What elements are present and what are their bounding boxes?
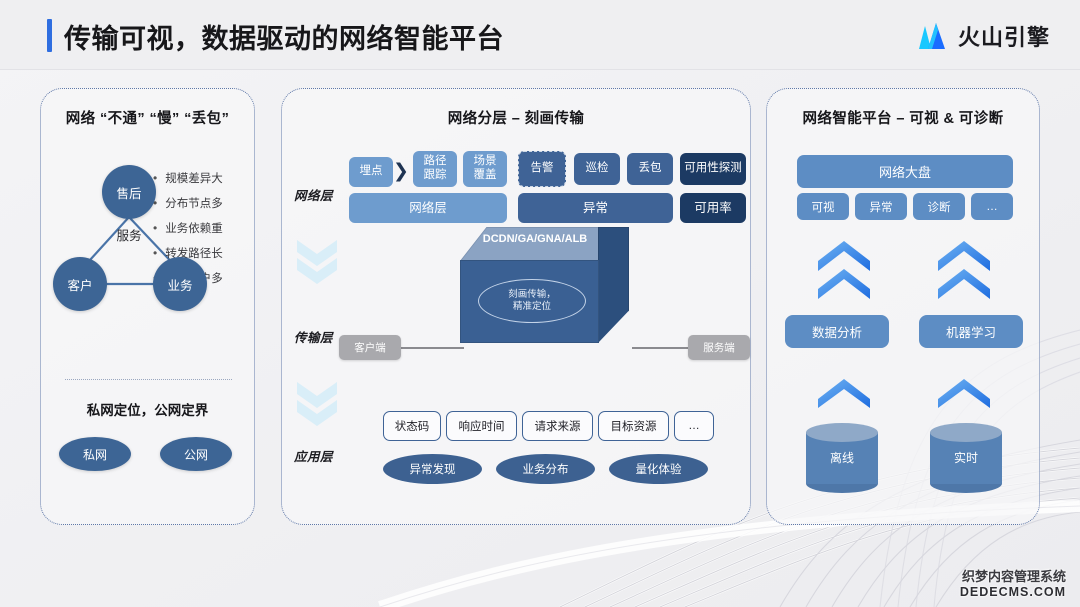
list-item: • 分布节点多 bbox=[153, 190, 258, 215]
chevron-up-icon bbox=[935, 377, 993, 409]
metric-target-resource[interactable]: 目标资源 bbox=[598, 411, 669, 441]
metric-more[interactable]: … bbox=[674, 411, 714, 441]
storage-offline-label: 离线 bbox=[806, 449, 878, 466]
storage-realtime-label: 实时 bbox=[930, 449, 1002, 466]
panel-network-layering: 网络分层 – 刻画传输 网络层 传输层 应用层 埋点 ❯ 路径跟踪 场景覆盖 告… bbox=[281, 88, 751, 525]
tag-availability-probe[interactable]: 可用性探测 bbox=[680, 153, 746, 185]
connector-client bbox=[398, 347, 464, 349]
node-client-endpoint[interactable]: 客户端 bbox=[339, 335, 401, 360]
cylinder-top bbox=[930, 423, 1002, 442]
node-server-endpoint[interactable]: 服务端 bbox=[688, 335, 750, 360]
tag-packet-loss[interactable]: 丢包 bbox=[627, 153, 673, 185]
chevron-down-icon bbox=[294, 379, 340, 427]
chip-anomaly[interactable]: 异常 bbox=[855, 193, 907, 220]
watermark: 织梦内容管理系统 DEDECMS.COM bbox=[960, 570, 1066, 599]
tag-alarm[interactable]: 告警 bbox=[518, 151, 566, 187]
chevron-up-double-icon bbox=[815, 239, 873, 301]
layer-label-application: 应用层 bbox=[294, 446, 333, 465]
panel-network-problems: 网络 “不通” “慢” “丢包” 售后 客户 业务 服务 • 规模差异大 • 分… bbox=[40, 88, 255, 525]
graph-node-business[interactable]: 业务 bbox=[153, 257, 207, 311]
node-public-network[interactable]: 公网 bbox=[160, 437, 232, 471]
storage-offline[interactable]: 离线 bbox=[806, 423, 878, 491]
outcome-business-distribution[interactable]: 业务分布 bbox=[496, 454, 595, 484]
bullet-text: 规模差异大 bbox=[165, 170, 223, 186]
graph-node-client[interactable]: 客户 bbox=[53, 257, 107, 311]
chip-diagnosis[interactable]: 诊断 bbox=[913, 193, 965, 220]
brand-name: 火山引擎 bbox=[958, 20, 1050, 52]
left-panel-divider bbox=[65, 379, 232, 380]
layer-label-transport: 传输层 bbox=[294, 327, 333, 346]
cylinder-top bbox=[806, 423, 878, 442]
tag-instrumentation[interactable]: 埋点 bbox=[349, 157, 393, 187]
title-accent-bar bbox=[47, 19, 52, 52]
chevron-up-double-icon bbox=[935, 239, 993, 301]
metric-status-code[interactable]: 状态码 bbox=[383, 411, 441, 441]
node-private-network[interactable]: 私网 bbox=[59, 437, 131, 471]
btn-data-analysis[interactable]: 数据分析 bbox=[785, 315, 889, 348]
bar-anomaly[interactable]: 异常 bbox=[518, 193, 673, 223]
left-panel-title: 网络 “不通” “慢” “丢包” bbox=[41, 107, 254, 128]
layer-label-network: 网络层 bbox=[294, 185, 333, 204]
outcome-quantified-experience[interactable]: 量化体验 bbox=[609, 454, 708, 484]
tag-inspection[interactable]: 巡检 bbox=[574, 153, 620, 185]
list-item: • 规模差异大 bbox=[153, 165, 258, 190]
box-label: DCDN/GA/GNA/ALB bbox=[470, 233, 600, 245]
chip-more[interactable]: … bbox=[971, 193, 1013, 220]
left-panel-subtitle: 私网定位，公网定界 bbox=[41, 399, 254, 419]
panel-intelligent-platform: 网络智能平台 – 可视 & 可诊断 网络大盘 可视 异常 诊断 … 数据分析 机… bbox=[766, 88, 1040, 525]
page-title: 传输可视，数据驱动的网络智能平台 bbox=[64, 17, 504, 56]
bullet-dot-icon: • bbox=[153, 247, 157, 259]
chevron-right-icon: ❯ bbox=[393, 161, 411, 183]
tag-scenario-coverage-line1: 场景覆盖 bbox=[474, 155, 497, 182]
volcano-mountain-icon bbox=[914, 21, 950, 51]
metric-response-time[interactable]: 响应时间 bbox=[446, 411, 517, 441]
center-panel-title: 网络分层 – 刻画传输 bbox=[282, 107, 750, 128]
chevron-down-icon bbox=[294, 237, 340, 285]
bar-network-dashboard[interactable]: 网络大盘 bbox=[797, 155, 1013, 188]
graph-node-after-sales[interactable]: 售后 bbox=[102, 165, 156, 219]
bullet-text: 业务依赖重 bbox=[165, 220, 223, 236]
brand-logo: 火山引擎 bbox=[914, 20, 1050, 52]
tag-scenario-coverage[interactable]: 场景覆盖 bbox=[463, 151, 507, 187]
transport-3d-box: DCDN/GA/GNA/ALB 刻画传输，精准定位 bbox=[460, 227, 630, 343]
chip-visibility[interactable]: 可视 bbox=[797, 193, 849, 220]
chevron-up-icon bbox=[815, 377, 873, 409]
btn-machine-learning[interactable]: 机器学习 bbox=[919, 315, 1023, 348]
watermark-cn: 织梦内容管理系统 bbox=[960, 570, 1066, 585]
bar-network-layer[interactable]: 网络层 bbox=[349, 193, 507, 223]
watermark-en: DEDECMS.COM bbox=[960, 585, 1066, 599]
bar-availability-rate[interactable]: 可用率 bbox=[680, 193, 746, 223]
metric-request-source[interactable]: 请求来源 bbox=[522, 411, 593, 441]
tag-path-tracing[interactable]: 路径跟踪 bbox=[413, 151, 457, 187]
right-panel-title: 网络智能平台 – 可视 & 可诊断 bbox=[767, 107, 1039, 128]
outcome-anomaly-detection[interactable]: 异常发现 bbox=[383, 454, 482, 484]
tag-path-tracing-line1: 路径跟踪 bbox=[424, 155, 447, 182]
bullet-text: 分布节点多 bbox=[165, 195, 223, 211]
storage-realtime[interactable]: 实时 bbox=[930, 423, 1002, 491]
box-caption-text: 刻画传输，精准定位 bbox=[508, 289, 556, 313]
box-ellipse-caption: 刻画传输，精准定位 bbox=[478, 279, 586, 323]
connector-server bbox=[632, 347, 694, 349]
graph-center-label: 服务 bbox=[89, 225, 169, 244]
box-side-face bbox=[598, 227, 629, 343]
page-header: 传输可视，数据驱动的网络智能平台 火山引擎 bbox=[0, 0, 1080, 70]
